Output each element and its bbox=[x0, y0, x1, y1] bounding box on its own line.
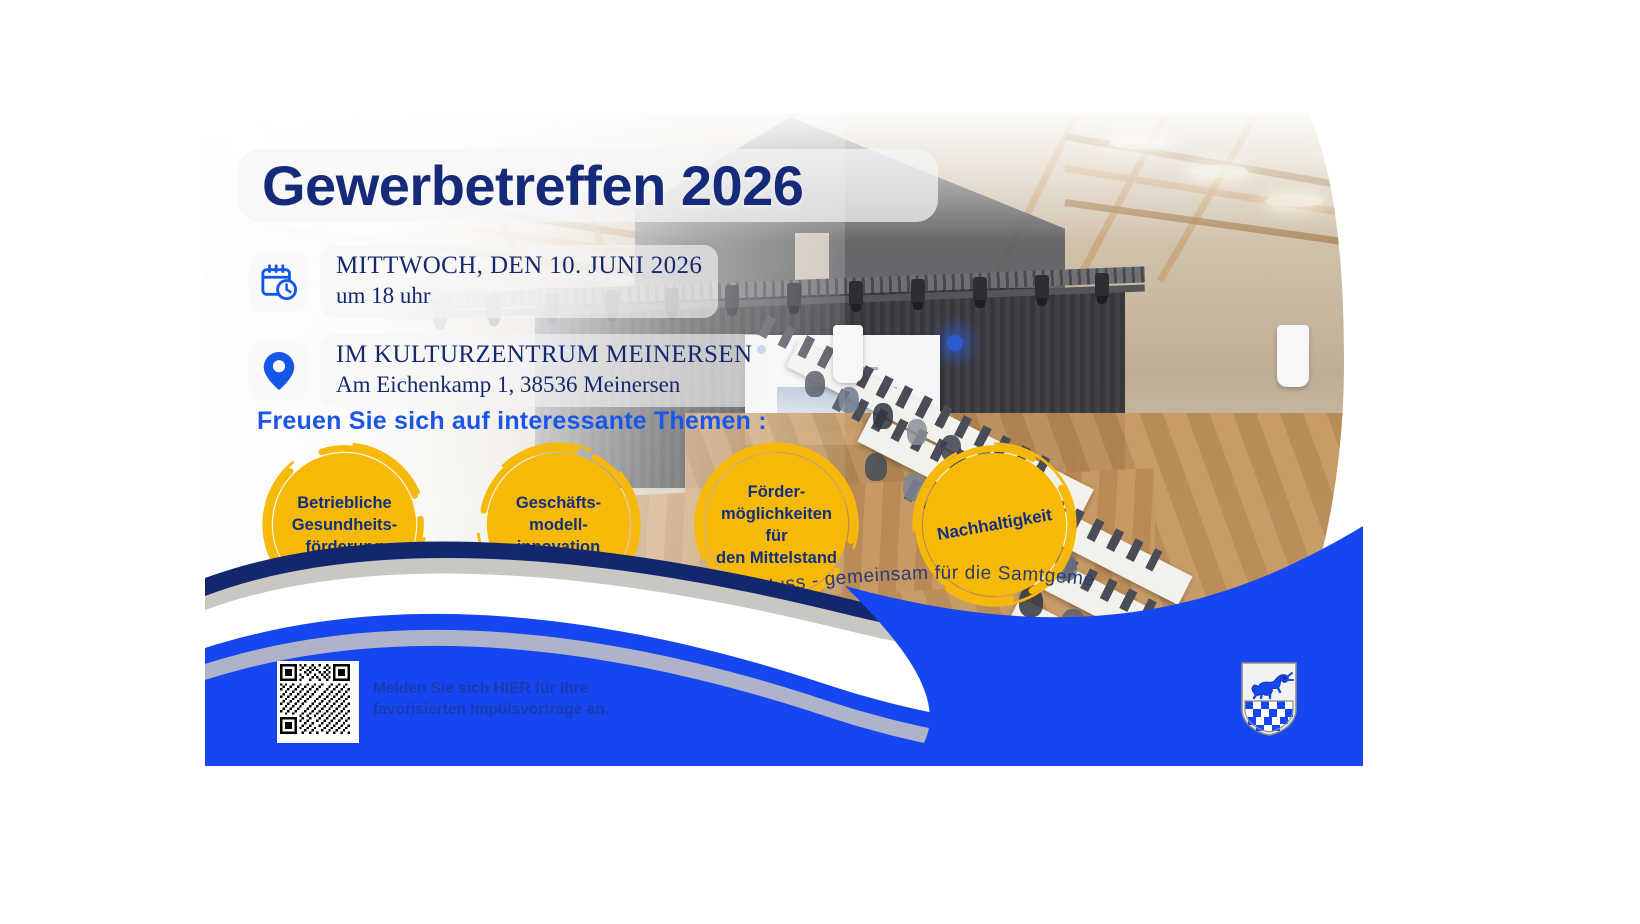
location-line-1: IM KULTURZENTRUM MEINERSEN bbox=[336, 339, 752, 370]
themes-heading: Freuen Sie sich auf interessante Themen … bbox=[257, 407, 767, 436]
cocktail-table bbox=[1277, 325, 1309, 387]
location-line-2: Am Eichenkamp 1, 38536 Meinersen bbox=[336, 370, 752, 400]
registration-line-1: Melden Sie sich HIER für Ihre bbox=[373, 678, 609, 699]
calendar-clock-icon bbox=[249, 252, 309, 312]
location-text-box: IM KULTURZENTRUM MEINERSEN Am Eichenkamp… bbox=[320, 334, 768, 407]
date-line-1: MITTWOCH, DEN 10. JUNI 2026 bbox=[336, 250, 702, 281]
date-row: MITTWOCH, DEN 10. JUNI 2026 um 18 uhr bbox=[249, 245, 718, 318]
coat-of-arms-icon bbox=[1240, 661, 1298, 737]
page-title: Gewerbetreffen 2026 bbox=[262, 151, 1022, 221]
registration-text: Melden Sie sich HIER für Ihre favorisier… bbox=[373, 678, 609, 720]
poster-canvas: Gewerbetreffen 2026 MITTWOCH, DEN 10. JU… bbox=[0, 0, 1640, 924]
map-pin-icon bbox=[249, 341, 309, 401]
registration-line-2: favorisierten Impulsvorträge an. bbox=[373, 699, 609, 720]
wave-decoration bbox=[205, 466, 1363, 766]
date-text-box: MITTWOCH, DEN 10. JUNI 2026 um 18 uhr bbox=[320, 245, 718, 318]
qr-code-icon[interactable] bbox=[277, 661, 359, 743]
date-line-2: um 18 uhr bbox=[336, 281, 702, 311]
poster: Gewerbetreffen 2026 MITTWOCH, DEN 10. JU… bbox=[205, 113, 1363, 766]
location-row: IM KULTURZENTRUM MEINERSEN Am Eichenkamp… bbox=[249, 334, 768, 407]
